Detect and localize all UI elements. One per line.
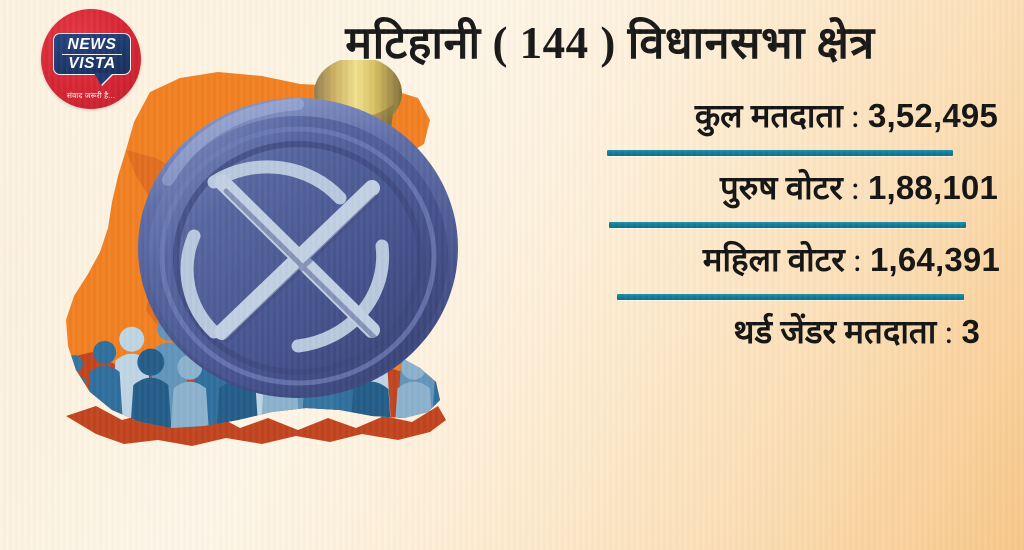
artwork-illustration: [0, 60, 600, 550]
stat-row-third-gender-voters: थर्ड जेंडर मतदाता : 3: [550, 312, 980, 353]
stat-value-third-gender-voters: 3: [961, 312, 980, 352]
stat-separator: :: [850, 97, 861, 137]
stat-label-female-voters: महिला वोटर: [703, 241, 845, 281]
stat-separator: :: [943, 313, 954, 353]
stat-label-total-voters: कुल मतदाता: [695, 97, 843, 137]
stat-separator: :: [850, 169, 861, 209]
stat-separator: :: [852, 241, 863, 281]
stat-row-female-voters: महिला वोटर : 1,64,391: [550, 240, 1000, 281]
stat-row-total-voters: कुल मतदाता : 3,52,495: [550, 96, 998, 137]
infographic-card: NEWS VISTA संवाद जरूरी है... मटिहानी ( 1…: [0, 0, 1024, 550]
voter-stats-panel: कुल मतदाता : 3,52,495 पुरुष वोटर : 1,88,…: [550, 96, 1010, 353]
stat-divider-3: [617, 294, 964, 300]
stat-divider-2: [609, 222, 966, 228]
stat-value-total-voters: 3,52,495: [868, 96, 998, 136]
stat-value-male-voters: 1,88,101: [868, 168, 998, 208]
stat-row-male-voters: पुरुष वोटर : 1,88,101: [550, 168, 998, 209]
stat-label-male-voters: पुरुष वोटर: [720, 169, 843, 209]
stat-divider-1: [607, 150, 953, 156]
stat-label-third-gender-voters: थर्ड जेंडर मतदाता: [733, 313, 936, 353]
stat-value-female-voters: 1,64,391: [870, 240, 1000, 280]
logo-text-news: NEWS: [68, 37, 117, 52]
